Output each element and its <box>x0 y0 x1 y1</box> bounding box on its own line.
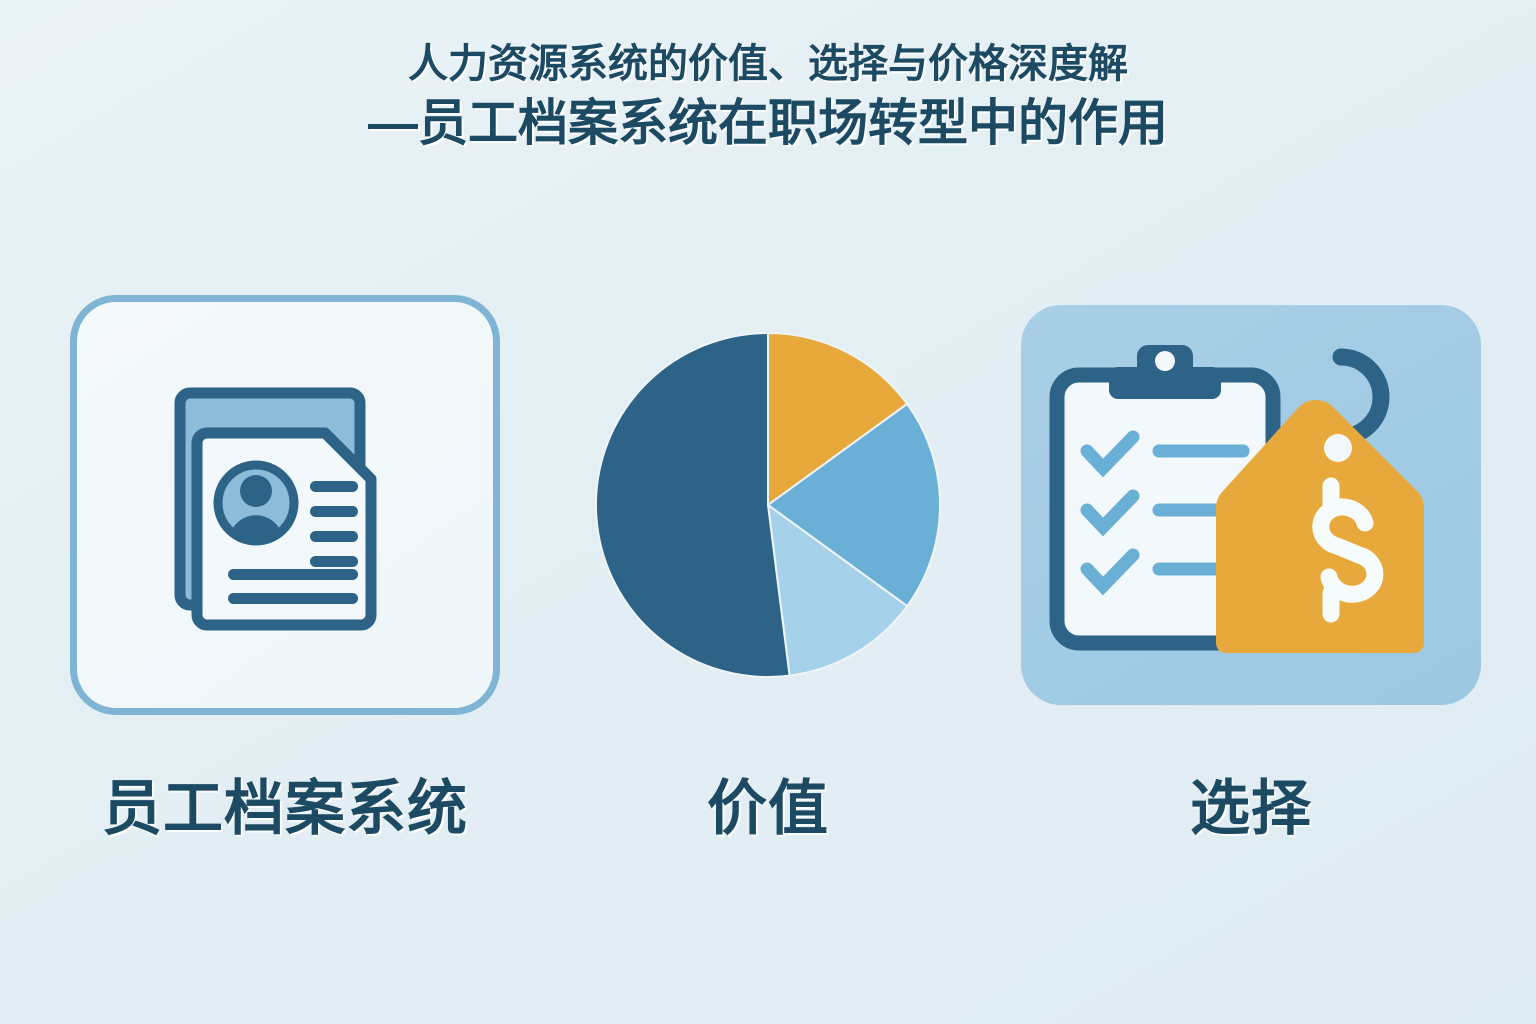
panel-art-3 <box>1021 290 1481 720</box>
panel-row: 员工档案系统 价值 <box>0 290 1536 910</box>
panel-label-employee-records: 员工档案系统 <box>102 760 468 847</box>
pie-chart-icon <box>595 332 941 678</box>
panel-label-value: 价值 <box>707 760 829 847</box>
employee-records-documents-icon <box>135 355 435 655</box>
panel-value: 价值 <box>543 290 993 847</box>
panel-selection: 选择 <box>1026 290 1476 847</box>
heading-block: 人力资源系统的价值、选择与价格深度解 —员工档案系统在职场转型中的作用 <box>0 0 1536 150</box>
document-card <box>70 295 500 715</box>
selection-card <box>1021 305 1481 705</box>
page-title: 人力资源系统的价值、选择与价格深度解 <box>0 44 1536 86</box>
panel-art-2 <box>588 290 948 720</box>
panel-art-1 <box>70 290 500 720</box>
panel-label-selection: 选择 <box>1190 760 1312 847</box>
pie-slice <box>596 333 790 677</box>
poster-root: 人力资源系统的价值、选择与价格深度解 —员工档案系统在职场转型中的作用 <box>0 0 1536 1024</box>
page-subtitle: —员工档案系统在职场转型中的作用 <box>0 96 1536 150</box>
pie-chart-wrapper <box>588 325 948 685</box>
pie-slices <box>596 333 940 677</box>
clipboard-checklist-price-tag-icon <box>1041 335 1461 675</box>
panel-employee-records: 员工档案系统 <box>60 290 510 847</box>
